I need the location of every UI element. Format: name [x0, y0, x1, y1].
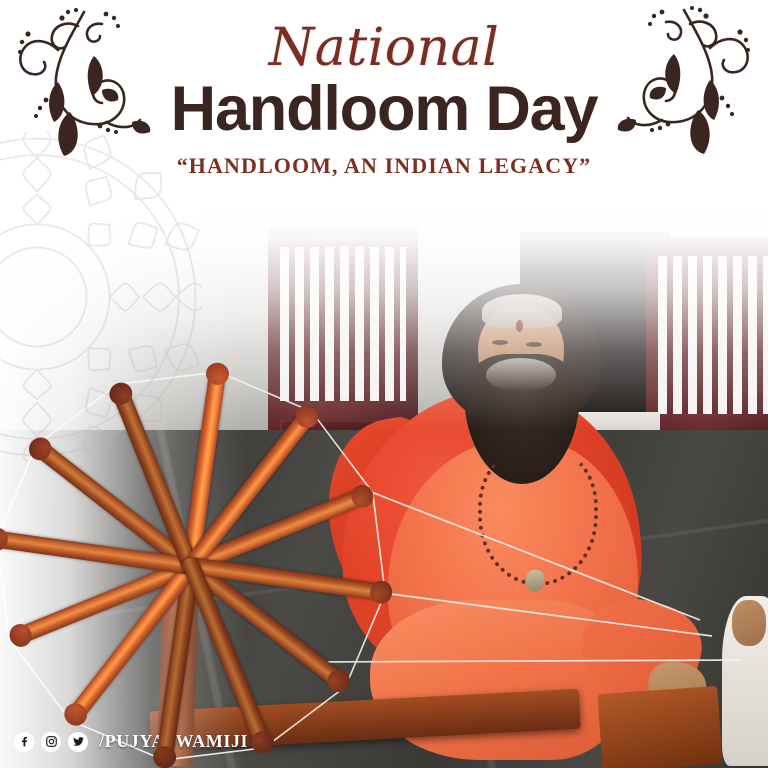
headline-block: National Handloom Day “HANDLOOM, AN INDI… [0, 0, 768, 177]
assistant-hand [732, 600, 766, 646]
facebook-icon[interactable] [14, 732, 34, 752]
mandala-petal [79, 339, 119, 379]
rudraksha-mala [478, 446, 598, 586]
script-heading: National [0, 0, 768, 74]
mandala-petal [143, 283, 176, 310]
spoke-knob [0, 526, 9, 552]
spoke-knob [60, 699, 92, 730]
social-footer: /PUJYASWAMIJI [14, 731, 248, 752]
spoke-knob [248, 727, 278, 756]
tagline: “HANDLOOM, AN INDIAN LEGACY” [0, 141, 768, 177]
mandala-petal [23, 370, 50, 400]
spoke-knob [291, 401, 323, 432]
page-title: Handloom Day [0, 74, 768, 141]
spoke-knob [6, 621, 35, 651]
eye-right [526, 342, 542, 347]
mandala-petal [110, 283, 140, 310]
mandala-petal [23, 195, 50, 225]
instagram-icon[interactable] [41, 732, 61, 752]
mandala-watermark [0, 132, 202, 462]
head [442, 284, 602, 442]
charkha-base-block [597, 686, 722, 768]
moustache-grey [486, 358, 556, 392]
poster-canvas: National Handloom Day “HANDLOOM, AN INDI… [0, 0, 768, 768]
spoke-knob [205, 361, 231, 386]
spoke-knob [369, 579, 394, 605]
mandala-petal [23, 403, 50, 436]
spoke-knob [323, 665, 354, 697]
tilak-mark [516, 320, 523, 332]
eye-left [492, 340, 508, 345]
twitter-icon[interactable] [68, 732, 88, 752]
spoke-knob [348, 481, 377, 511]
mandala-petal [79, 215, 119, 255]
